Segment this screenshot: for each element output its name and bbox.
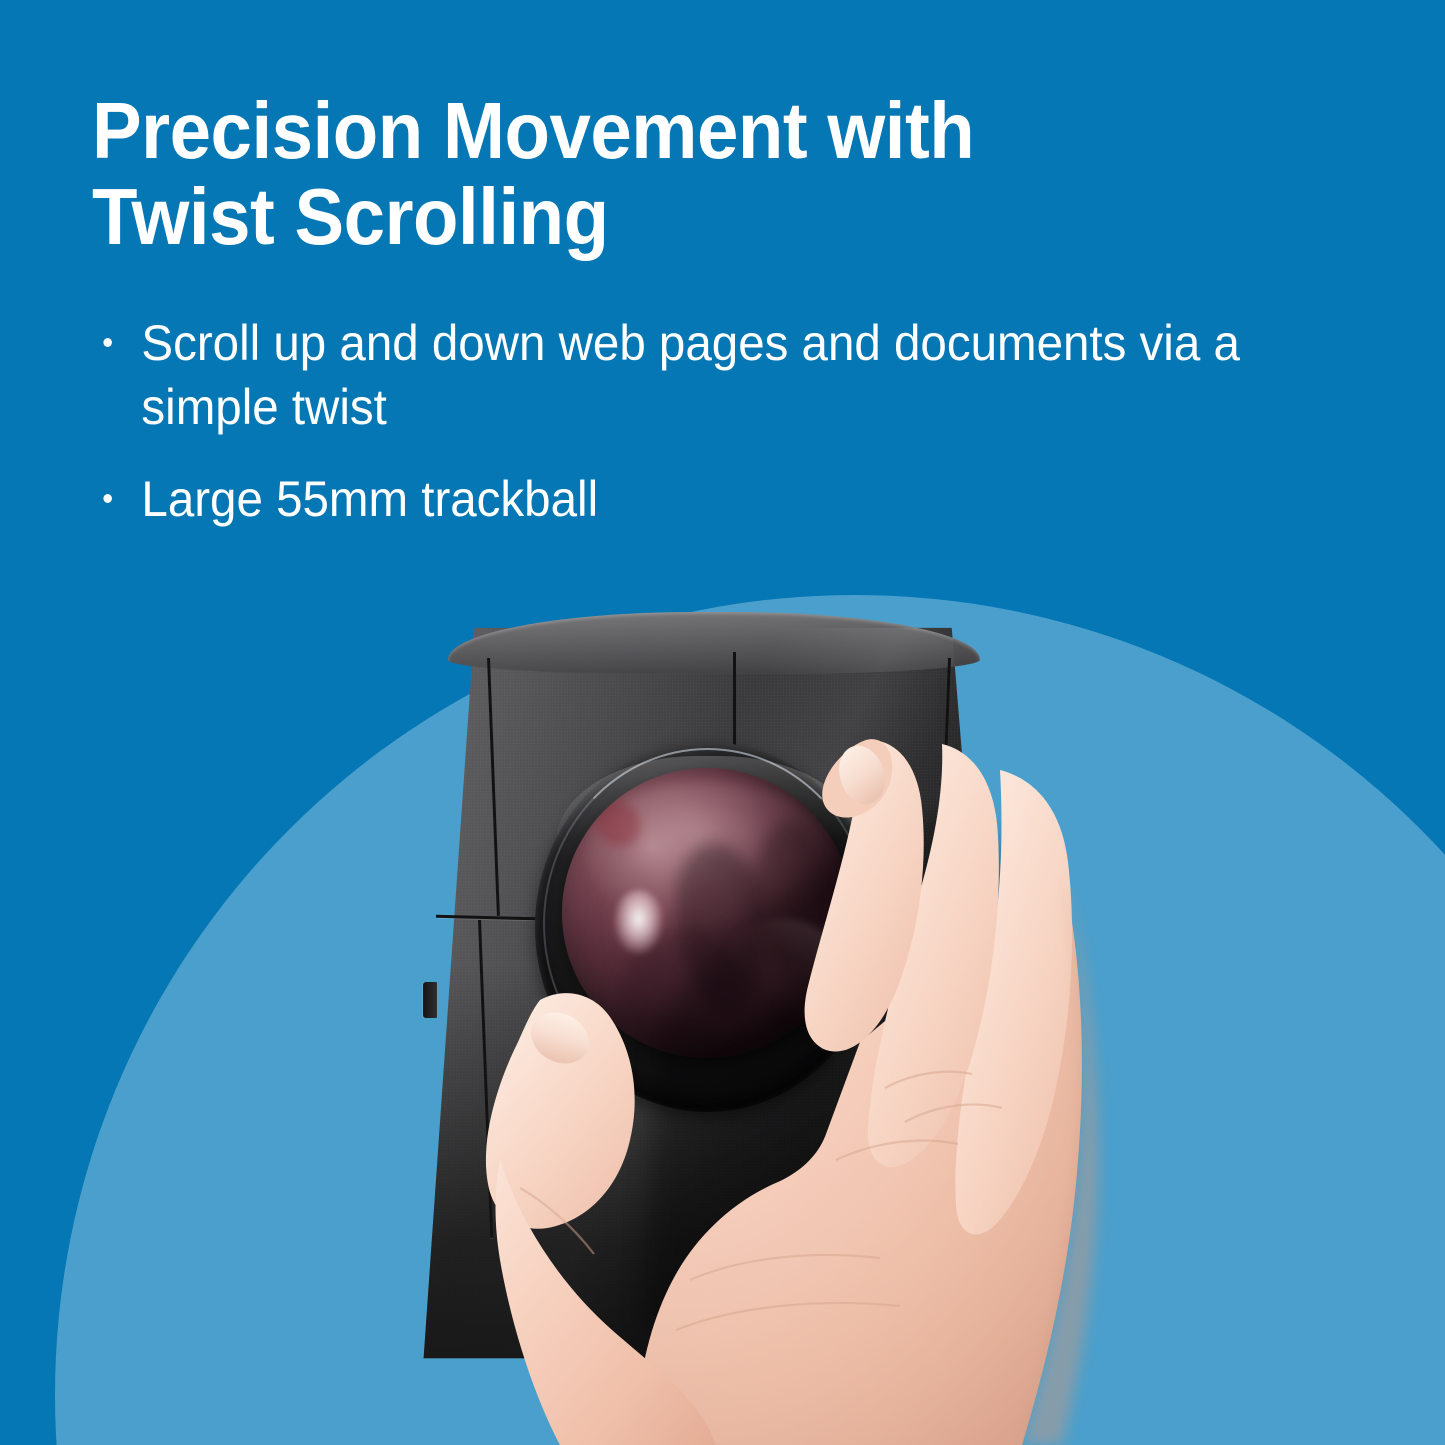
center-button-seam (733, 652, 736, 754)
page-title: Precision Movement with Twist Scrolling (92, 88, 1294, 259)
list-item: Large 55mm trackball (92, 467, 1320, 531)
list-item: Scroll up and down web pages and documen… (92, 311, 1320, 439)
bullet-dot-icon (103, 338, 112, 347)
feature-text: Scroll up and down web pages and documen… (141, 315, 1239, 435)
copy-block: Precision Movement with Twist Scrolling … (0, 0, 1445, 559)
trackball-specular-highlight (614, 890, 663, 954)
trackball (562, 768, 852, 1058)
product-feature-banner: Precision Movement with Twist Scrolling … (0, 0, 1445, 1445)
trackball-rim-light (713, 919, 852, 1052)
feature-text: Large 55mm trackball (141, 471, 598, 527)
side-button (423, 982, 437, 1018)
feature-list: Scroll up and down web pages and documen… (92, 311, 1385, 531)
bullet-dot-icon (103, 494, 112, 503)
device-top-lip (448, 612, 980, 674)
hand-edge-shading (1022, 872, 1098, 1445)
